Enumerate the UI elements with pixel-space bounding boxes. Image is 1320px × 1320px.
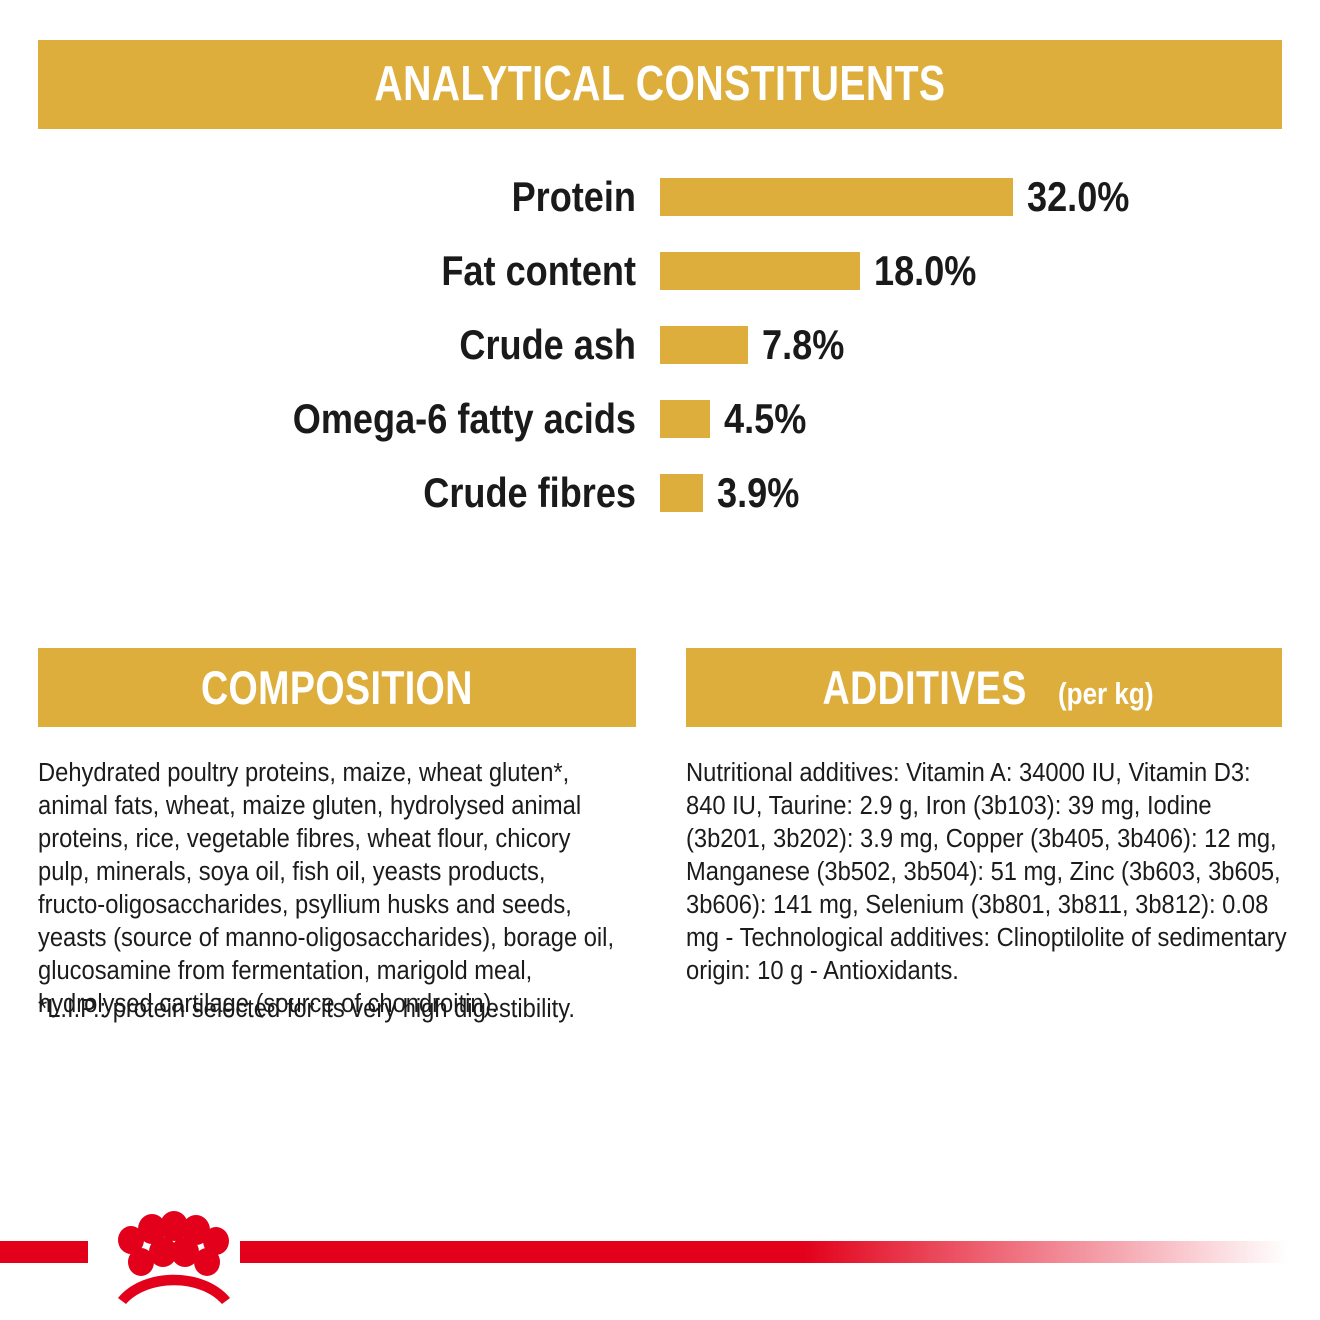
bar-label-fat-content: Fat content — [89, 247, 636, 295]
bar-fill-fat-content — [660, 252, 860, 290]
bar-label-omega-6-fatty-acids: Omega-6 fatty acids — [89, 395, 636, 443]
bar-label-crude-ash: Crude ash — [89, 321, 636, 369]
composition-footnote: *L.I.P.: protein selected for its very h… — [38, 993, 615, 1026]
royal-canin-crown-icon — [88, 1205, 240, 1305]
bar-fill-protein — [660, 178, 1013, 216]
additives-heading-suffix: (per kg) — [1058, 676, 1153, 712]
bar-value-crude-ash: 7.8% — [762, 321, 844, 369]
chart-row-omega-6-fatty-acids: Omega-6 fatty acids 4.5% — [0, 400, 1320, 438]
analytical-constituents-chart: Protein 32.0% Fat content 18.0% Crude as… — [0, 178, 1320, 548]
bar-track-crude-ash: 7.8% — [660, 321, 858, 369]
additives-banner: ADDITIVES (per kg) — [686, 648, 1282, 727]
bar-fill-crude-fibres — [660, 474, 703, 512]
bar-value-omega-6-fatty-acids: 4.5% — [724, 395, 806, 443]
footer-rule-left — [0, 1241, 88, 1263]
additives-body-text: Nutritional additives: Vitamin A: 34000 … — [686, 757, 1291, 988]
bar-fill-crude-ash — [660, 326, 748, 364]
bar-value-crude-fibres: 3.9% — [717, 469, 799, 517]
chart-row-fat-content: Fat content 18.0% — [0, 252, 1320, 290]
composition-banner: COMPOSITION — [38, 648, 636, 727]
bar-track-crude-fibres: 3.9% — [660, 469, 813, 517]
additives-heading: ADDITIVES — [822, 664, 1026, 711]
composition-heading: COMPOSITION — [201, 664, 473, 711]
bar-track-omega-6-fatty-acids: 4.5% — [660, 395, 820, 443]
chart-row-crude-fibres: Crude fibres 3.9% — [0, 474, 1320, 512]
page-title: ANALYTICAL CONSTITUENTS — [374, 60, 945, 109]
bar-label-protein: Protein — [89, 173, 636, 221]
analytical-constituents-banner: ANALYTICAL CONSTITUENTS — [38, 40, 1282, 129]
bar-value-protein: 32.0% — [1027, 173, 1129, 221]
bar-track-protein: 32.0% — [660, 173, 1146, 221]
bar-fill-omega-6-fatty-acids — [660, 400, 710, 438]
bar-label-crude-fibres: Crude fibres — [89, 469, 636, 517]
bar-track-fat-content: 18.0% — [660, 247, 993, 295]
composition-body-text: Dehydrated poultry proteins, maize, whea… — [38, 757, 615, 1021]
footer — [0, 1205, 1320, 1320]
chart-row-crude-ash: Crude ash 7.8% — [0, 326, 1320, 364]
chart-row-protein: Protein 32.0% — [0, 178, 1320, 216]
footer-rule-right — [240, 1241, 1320, 1263]
bar-value-fat-content: 18.0% — [874, 247, 976, 295]
nutrition-label-page: ANALYTICAL CONSTITUENTS Protein 32.0% Fa… — [0, 0, 1320, 1320]
